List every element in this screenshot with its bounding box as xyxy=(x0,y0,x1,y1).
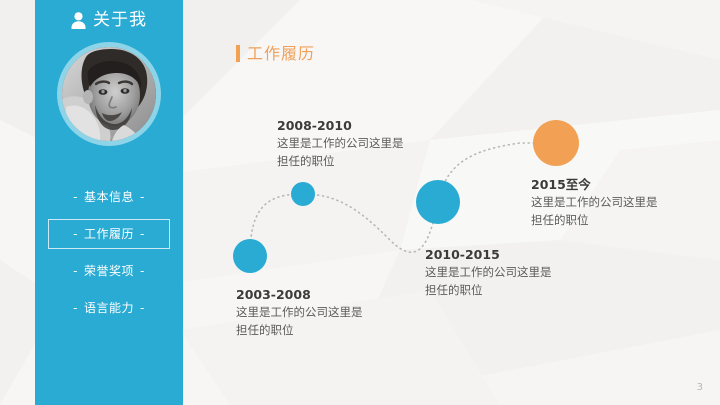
sidebar-header: 关于我 xyxy=(35,12,183,29)
sidebar-item-work-experience[interactable]: - 工作履历 - xyxy=(48,219,170,249)
timeline-node-2015-present[interactable] xyxy=(533,120,579,166)
dash-right: - xyxy=(140,228,145,240)
entry-description: 这里是工作的公司这里是担任的职位 xyxy=(277,135,405,171)
avatar-portrait xyxy=(62,47,156,141)
sidebar-item-awards[interactable]: - 荣誉奖项 - xyxy=(48,256,170,286)
timeline-entry-2015-present: 2015至今 这里是工作的公司这里是担任的职位 xyxy=(531,177,659,230)
sidebar-item-basic-info[interactable]: - 基本信息 - xyxy=(48,182,170,212)
entry-year: 2015至今 xyxy=(531,177,659,194)
timeline-node-2003-2008[interactable] xyxy=(233,239,267,273)
dash-right: - xyxy=(140,302,145,314)
dash-left: - xyxy=(73,228,78,240)
dash-right: - xyxy=(140,191,145,203)
entry-description: 这里是工作的公司这里是担任的职位 xyxy=(531,194,659,230)
timeline-entry-2003-2008: 2003-2008 这里是工作的公司这里是担任的职位 xyxy=(236,287,364,340)
timeline-node-2008-2010[interactable] xyxy=(291,182,315,206)
page-title: 工作履历 xyxy=(236,45,315,62)
dash-left: - xyxy=(73,265,78,277)
sidebar-menu: - 基本信息 - - 工作履历 - - 荣誉奖项 - - 语言能力 - xyxy=(35,182,183,330)
page-title-text: 工作履历 xyxy=(247,46,315,62)
timeline-node-2010-2015[interactable] xyxy=(416,180,460,224)
entry-description: 这里是工作的公司这里是担任的职位 xyxy=(236,304,364,340)
entry-year: 2008-2010 xyxy=(277,118,405,135)
sidebar-item-label: 语言能力 xyxy=(84,302,134,314)
sidebar-title: 关于我 xyxy=(93,12,147,29)
dash-right: - xyxy=(140,265,145,277)
avatar xyxy=(57,42,161,146)
sidebar-item-language-skills[interactable]: - 语言能力 - xyxy=(48,293,170,323)
page-number: 3 xyxy=(697,382,703,393)
dash-left: - xyxy=(73,302,78,314)
sidebar-item-label: 工作履历 xyxy=(84,228,134,240)
slide-canvas: 关于我 xyxy=(0,0,720,405)
person-icon xyxy=(71,12,86,29)
sidebar-item-label: 荣誉奖项 xyxy=(84,265,134,277)
entry-year: 2003-2008 xyxy=(236,287,364,304)
sidebar-item-label: 基本信息 xyxy=(84,191,134,203)
entry-year: 2010-2015 xyxy=(425,247,553,264)
dash-left: - xyxy=(73,191,78,203)
timeline-entry-2010-2015: 2010-2015 这里是工作的公司这里是担任的职位 xyxy=(425,247,553,300)
entry-description: 这里是工作的公司这里是担任的职位 xyxy=(425,264,553,300)
sidebar: 关于我 xyxy=(35,0,183,405)
title-accent-bar xyxy=(236,45,240,62)
timeline-entry-2008-2010: 2008-2010 这里是工作的公司这里是担任的职位 xyxy=(277,118,405,171)
